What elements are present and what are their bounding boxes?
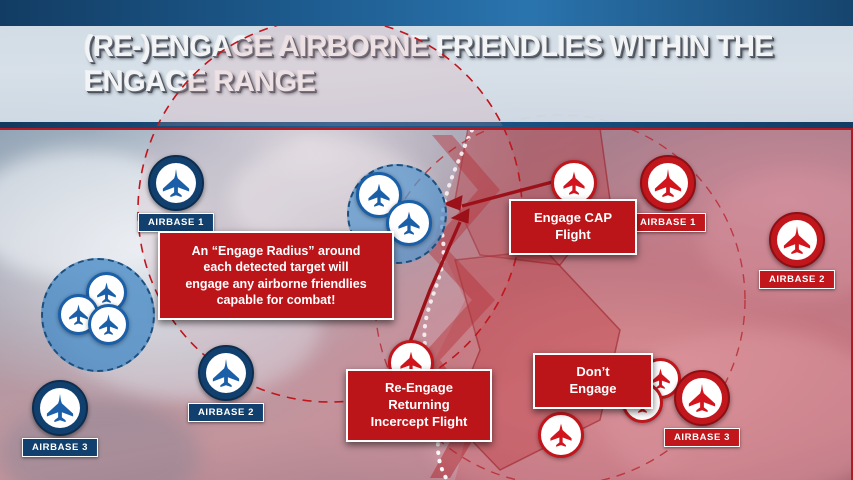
airbase-icon[interactable] bbox=[198, 345, 254, 401]
info-line-2: each detected target will bbox=[172, 259, 380, 275]
title-line-1: (RE-)ENGAGE AIRBORNE FRIENDLIES bbox=[84, 31, 602, 63]
airbase-icon[interactable] bbox=[769, 212, 825, 268]
airbase-label: AIRBASE 1 bbox=[138, 213, 214, 232]
jet-glyph bbox=[548, 422, 574, 448]
airbase-inner bbox=[648, 163, 688, 203]
red-airbase-1[interactable]: AIRBASE 1 bbox=[640, 155, 696, 211]
airbase-icon[interactable] bbox=[640, 155, 696, 211]
airbase-inner bbox=[682, 378, 722, 418]
airbase-icon[interactable] bbox=[148, 155, 204, 211]
page-title: (RE-)ENGAGE AIRBORNE FRIENDLIES WITHIN T… bbox=[84, 30, 784, 101]
re-engage-line-2: Returning bbox=[360, 397, 478, 414]
jet-glyph bbox=[211, 358, 241, 388]
dont-engage-line-2: Engage bbox=[547, 381, 639, 398]
airbase-inner bbox=[777, 220, 817, 260]
jet-glyph bbox=[95, 281, 118, 304]
jet-glyph bbox=[366, 182, 392, 208]
airbase-label: AIRBASE 2 bbox=[188, 403, 264, 422]
airbase-icon[interactable] bbox=[32, 380, 88, 436]
airbase-inner bbox=[206, 353, 246, 393]
jet-glyph bbox=[653, 168, 683, 198]
info-line-1: An “Engage Radius” around bbox=[172, 243, 380, 259]
info-line-3: engage any airborne friendlies bbox=[172, 276, 380, 292]
re-engage-returning-label: Re-Engage Returning Incercept Flight bbox=[346, 369, 492, 442]
airbase-label: AIRBASE 2 bbox=[759, 270, 835, 289]
engage-cap-line-1: Engage CAP bbox=[523, 210, 623, 227]
dont-engage-line-1: Don’t bbox=[547, 364, 639, 381]
red-airbase-3[interactable]: AIRBASE 3 bbox=[674, 370, 730, 426]
jet-glyph bbox=[561, 170, 587, 196]
banner-bottom-bar bbox=[0, 122, 853, 128]
banner-top-bar bbox=[0, 0, 853, 26]
re-engage-line-3: Incercept Flight bbox=[360, 414, 478, 431]
jet-glyph bbox=[687, 383, 717, 413]
engage-cap-flight-label: Engage CAP Flight bbox=[509, 199, 637, 255]
blue-airbase-3[interactable]: AIRBASE 3 bbox=[32, 380, 88, 436]
airbase-label: AIRBASE 1 bbox=[630, 213, 706, 232]
fighter-jet-icon[interactable] bbox=[88, 304, 129, 345]
jet-glyph bbox=[67, 303, 90, 326]
blue-airbase-2[interactable]: AIRBASE 2 bbox=[198, 345, 254, 401]
blue-airbase-1[interactable]: AIRBASE 1 bbox=[148, 155, 204, 211]
engage-cap-line-2: Flight bbox=[523, 227, 623, 244]
dont-engage-label: Don’t Engage bbox=[533, 353, 653, 409]
jet-glyph bbox=[45, 393, 75, 423]
engage-radius-info-callout: An “Engage Radius” around each detected … bbox=[158, 231, 394, 320]
airbase-inner bbox=[40, 388, 80, 428]
jet-glyph bbox=[782, 225, 812, 255]
jet-glyph bbox=[396, 210, 422, 236]
red-airbase-2[interactable]: AIRBASE 2 bbox=[769, 212, 825, 268]
title-banner: (RE-)ENGAGE AIRBORNE FRIENDLIES WITHIN T… bbox=[0, 0, 853, 128]
airbase-label: AIRBASE 3 bbox=[22, 438, 98, 457]
slide-canvas: AIRBASE 1 AIRBASE 2 AIRBASE 3 bbox=[0, 0, 853, 480]
re-engage-line-1: Re-Engage bbox=[360, 380, 478, 397]
red-lone-flight[interactable] bbox=[538, 412, 584, 458]
jet-glyph bbox=[97, 313, 120, 336]
airbase-inner bbox=[156, 163, 196, 203]
jet-glyph bbox=[161, 168, 191, 198]
airbase-icon[interactable] bbox=[674, 370, 730, 426]
info-line-4: capable for combat! bbox=[172, 292, 380, 308]
airbase-label: AIRBASE 3 bbox=[664, 428, 740, 447]
